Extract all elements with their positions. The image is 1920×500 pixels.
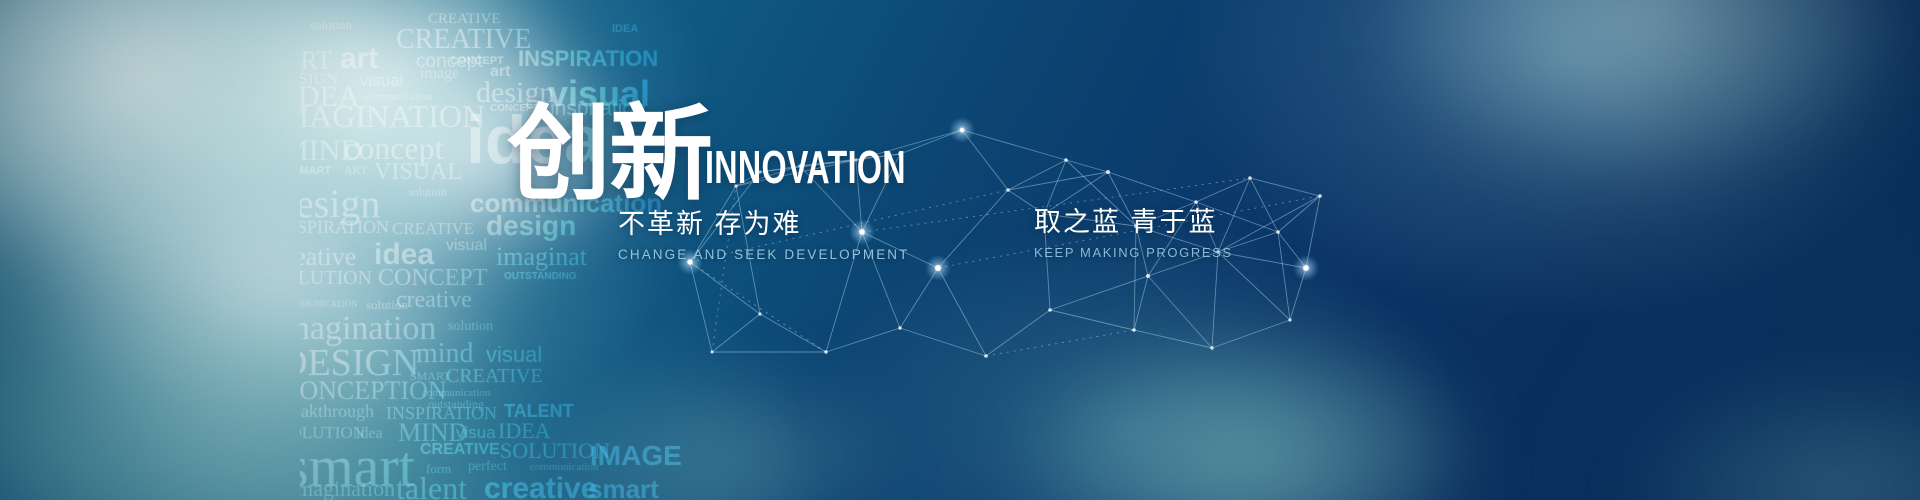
mesh-edge [1148, 276, 1212, 348]
headline-chinese: 创新 [507, 106, 711, 206]
mesh-edge [986, 310, 1050, 356]
mesh-edge [1250, 178, 1278, 232]
mesh-edge [712, 186, 736, 352]
mesh-edge [690, 262, 826, 352]
mesh-edge [1250, 178, 1320, 196]
mesh-edge [690, 186, 736, 262]
word-cloud-term: CREATIVE [428, 12, 501, 27]
mesh-edge [1008, 190, 1044, 214]
word-cloud-term: image [420, 66, 459, 82]
cloud-shape [0, 300, 500, 500]
cloud-shape [150, 0, 580, 250]
mesh-edge [1196, 202, 1278, 232]
mesh-edge [986, 330, 1134, 356]
mesh-node [1048, 308, 1052, 312]
word-cloud-term: IDEA [300, 82, 360, 112]
word-cloud-term: COMMUNICATION [300, 300, 358, 309]
mesh-node [1106, 170, 1110, 174]
word-cloud-term: SOLUTION [300, 268, 372, 288]
word-cloud-term: INSPIRATION [300, 218, 389, 236]
mesh-node [1276, 230, 1280, 234]
mesh-edge [690, 190, 1008, 262]
mesh-edge [1136, 226, 1218, 252]
mesh-edge [1108, 172, 1136, 226]
mesh-edge [1218, 232, 1278, 252]
mesh-edge [938, 268, 986, 356]
mesh-edge [1278, 232, 1290, 320]
mesh-edge [1212, 252, 1218, 348]
word-cloud-term: CREATIVE [396, 26, 531, 54]
word-cloud-term: communication [422, 388, 490, 399]
mesh-edge [862, 232, 938, 268]
word-cloud-term: MIND [300, 136, 362, 166]
mesh-node-glow [949, 117, 975, 143]
word-cloud-term: CONCEPTION [300, 378, 447, 404]
word-cloud-background: CREATIVEsolutionCREATIVEIDEASMARTartCONC… [300, 0, 720, 500]
mesh-node [734, 184, 738, 188]
mesh-node-glow [925, 255, 951, 281]
mesh-edge [690, 262, 760, 314]
mesh-edge [1148, 202, 1196, 276]
mesh-edge [1218, 252, 1290, 320]
word-cloud-term: idea [356, 426, 383, 442]
word-cloud-term: CREATIVE [392, 220, 474, 237]
cloud-shape [330, 40, 630, 270]
word-cloud-term: IDEA [612, 24, 638, 35]
word-cloud-term: idea [374, 240, 434, 270]
mesh-node [758, 312, 761, 315]
word-cloud-term: visual [486, 344, 542, 366]
mesh-edge [1044, 160, 1066, 214]
word-cloud-term: DESIGN [300, 70, 338, 87]
mesh-edge [736, 160, 856, 186]
cloud-shape [560, 360, 900, 500]
mesh-edge [856, 130, 962, 160]
slogan-left-chinese: 不革新 存为难 [618, 208, 910, 242]
word-cloud-term: SMART [300, 166, 331, 177]
mesh-edge [736, 186, 760, 314]
mesh-edge [1306, 196, 1320, 268]
mesh-node [898, 152, 902, 156]
mesh-edge [1148, 252, 1218, 276]
word-cloud-term: SMART [300, 48, 332, 74]
mesh-lines [690, 130, 1320, 356]
word-cloud-term: IDEA [498, 420, 551, 442]
mesh-edge [900, 130, 962, 154]
cloud-shape [30, 120, 510, 440]
mesh-node-glow [849, 219, 875, 245]
word-cloud-term: smart [588, 476, 659, 500]
mesh-node [1216, 250, 1220, 254]
mesh-edge [736, 172, 760, 186]
mesh-edge [1218, 178, 1250, 252]
mesh-node [1132, 328, 1136, 332]
mesh-edge [1290, 268, 1306, 320]
slogan-left-english: CHANGE AND SEEK DEVELOPMENT [618, 247, 910, 262]
mesh-edge [1134, 226, 1136, 330]
mesh-edge [1108, 172, 1196, 202]
mesh-node [824, 350, 827, 353]
mesh-nodes [687, 128, 1321, 358]
word-cloud-term: creative [396, 288, 472, 312]
mesh-edge [1134, 276, 1148, 330]
word-cloud-term: visua [456, 424, 496, 441]
word-cloud-term: TALENT [504, 402, 574, 420]
word-cloud-term: design [476, 78, 554, 108]
slogan-right: 取之蓝 青于蓝 KEEP MAKING PROGRESS [1034, 206, 1233, 260]
slogan-left: 不革新 存为难 CHANGE AND SEEK DEVELOPMENT [618, 208, 910, 262]
headline: 创新 INNOVATION [507, 96, 992, 206]
word-cloud-term: OUTSTANDING [504, 272, 577, 282]
word-cloud-term: IMAGINATION [300, 100, 485, 132]
word-cloud-term: VISUAL [374, 160, 462, 184]
word-cloud-term: perfect [468, 460, 507, 474]
mesh-edge [856, 154, 900, 160]
mesh-edge [900, 328, 986, 356]
mesh-edge [1212, 320, 1290, 348]
word-cloud-term: INSPIRATION [386, 404, 497, 422]
mesh-edge [938, 196, 1320, 268]
mesh-edge [690, 262, 712, 352]
mesh-edge [1044, 172, 1108, 214]
word-cloud-term: imaginat [496, 244, 587, 270]
word-cloud-term: communication [364, 92, 432, 103]
mesh-node [984, 354, 988, 358]
network-mesh-graphic [0, 0, 1920, 500]
word-cloud-term: design [300, 184, 380, 224]
mesh-edge [900, 268, 938, 328]
mesh-edge [1278, 232, 1306, 268]
word-cloud-term: imagination [300, 478, 395, 500]
word-cloud-term: solution [366, 298, 408, 311]
mesh-edge [826, 232, 862, 352]
mesh-edge [1050, 276, 1148, 310]
word-cloud-term: SOLUTION [500, 440, 610, 462]
word-cloud-term: SOLUTION [300, 424, 365, 441]
word-cloud-term: concept [344, 132, 444, 164]
word-cloud-term: CREATIVE [446, 366, 543, 386]
mesh-node [1303, 265, 1309, 271]
mesh-node [1006, 188, 1010, 192]
mesh-node [1194, 200, 1198, 204]
mesh-edge [760, 166, 800, 172]
mesh-edge [1066, 160, 1136, 226]
mesh-edge [1066, 160, 1108, 172]
word-cloud-term: solution [408, 186, 447, 198]
mesh-node-glow [677, 249, 703, 275]
mesh-node [859, 229, 865, 235]
word-cloud-term: CREATIVE [420, 442, 500, 458]
mesh-node [798, 164, 802, 168]
mesh-edge [1008, 172, 1108, 190]
word-cloud-term: inspiration [550, 98, 646, 119]
word-cloud-term: ART [344, 164, 367, 176]
mesh-edge [1218, 252, 1306, 268]
word-cloud-term: creative [300, 244, 356, 270]
word-cloud-term: INSPIRATION [518, 48, 658, 70]
mesh-node [1248, 176, 1252, 180]
mesh-edge [938, 190, 1008, 268]
mesh-edge [1196, 178, 1250, 202]
mesh-edge [712, 314, 760, 352]
cloud-shape [0, 0, 400, 290]
word-cloud-term: SMART [410, 370, 451, 382]
mesh-node [1146, 274, 1150, 278]
mesh-node [758, 170, 761, 173]
word-cloud-term: MIND [398, 420, 467, 446]
word-cloud-term: visual [446, 238, 487, 254]
headline-english: INNOVATION [705, 144, 906, 190]
word-cloud-term: art [490, 64, 510, 80]
cloud-shape [1020, 330, 1480, 500]
word-cloud-term: communication [470, 190, 662, 216]
mesh-edge [690, 172, 760, 262]
mesh-node [687, 259, 692, 264]
word-cloud-term: smart [300, 438, 415, 496]
slogan-right-english: KEEP MAKING PROGRESS [1034, 245, 1233, 260]
mesh-edge [856, 160, 862, 232]
word-cloud-term: communication [530, 462, 598, 473]
word-cloud-term: visual [548, 76, 650, 112]
word-cloud-term: breakthrough [300, 402, 374, 420]
mesh-edge [862, 154, 900, 232]
mesh-edge [1044, 214, 1050, 310]
word-cloud-term: design [486, 212, 576, 240]
mesh-edge [1136, 202, 1196, 226]
cloud-shape [1640, 380, 1920, 500]
word-cloud-term: art [340, 44, 378, 74]
mesh-edge [862, 178, 1250, 232]
mesh-edge [1008, 160, 1066, 190]
word-cloud-term: outstanding [428, 398, 484, 410]
word-cloud-term: imagination [300, 312, 436, 346]
word-cloud-term: concept [416, 52, 483, 71]
mesh-node [898, 326, 901, 329]
mesh-node [854, 158, 857, 161]
mesh-edge [962, 130, 1008, 190]
mesh-edge [760, 160, 856, 172]
word-cloud-term: form [426, 462, 451, 475]
mesh-node [1042, 212, 1046, 216]
mesh-edge [1136, 226, 1148, 276]
vignette-overlay [0, 0, 1920, 500]
word-cloud-term: CONCEPT [450, 56, 504, 67]
innovation-banner: CREATIVEsolutionCREATIVEIDEASMARTartCONC… [0, 0, 1920, 500]
mesh-dotted-lines [690, 178, 1320, 356]
word-cloud-term: CONCEPT [490, 104, 539, 114]
mesh-edge [1134, 330, 1212, 348]
mesh-edge [862, 232, 900, 328]
word-cloud-term: solution [310, 18, 352, 31]
word-cloud-term: IMAGE [590, 442, 682, 470]
mesh-edge [1278, 196, 1320, 232]
mesh-edge [1218, 196, 1320, 252]
mesh-edge [760, 314, 826, 352]
word-cloud-term: DESIGN [300, 344, 419, 382]
word-cloud-term: creative [484, 474, 597, 500]
mesh-edge [800, 154, 900, 166]
mesh-node [1134, 224, 1138, 228]
mesh-node [935, 265, 941, 271]
cloud-layer [0, 0, 1920, 500]
mesh-node [960, 128, 964, 132]
cloud-shape [1380, 0, 1900, 180]
word-cloud-term: talent [396, 472, 467, 500]
mesh-node [1318, 194, 1322, 198]
word-cloud-term: mind [416, 340, 474, 368]
mesh-edge [1044, 214, 1136, 226]
word-cloud-term: visual [360, 72, 403, 89]
mesh-node-glow [1293, 255, 1319, 281]
mesh-node [1064, 158, 1068, 162]
mesh-edge [962, 130, 1066, 160]
mesh-node-glows [677, 117, 1319, 281]
mesh-edge [736, 166, 800, 186]
word-cloud-term: idea [466, 106, 602, 174]
mesh-edge [1050, 310, 1134, 330]
mesh-edge [826, 328, 900, 352]
mesh-node [711, 351, 714, 354]
word-cloud-term: CONCEPT [378, 266, 487, 290]
mesh-node [1288, 318, 1291, 321]
word-cloud-term: solution [448, 320, 493, 334]
mesh-node [1210, 346, 1213, 349]
mesh-edge [800, 160, 856, 166]
slogan-right-chinese: 取之蓝 青于蓝 [1034, 206, 1233, 240]
mesh-edge [800, 166, 862, 232]
mesh-edge [1196, 202, 1218, 252]
